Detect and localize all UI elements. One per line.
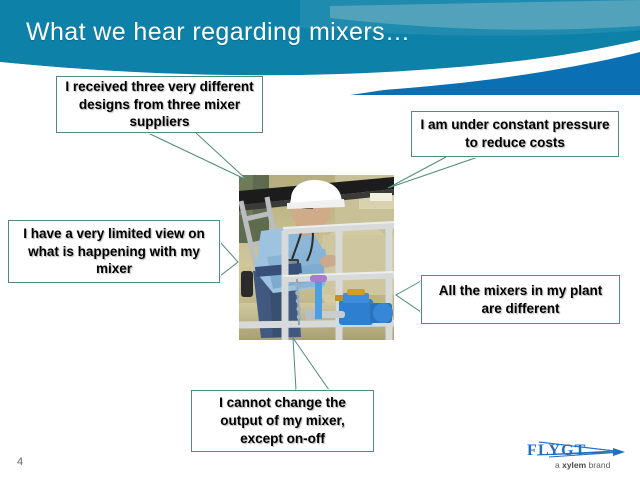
page-number: 4 — [17, 456, 23, 468]
flygt-logo: FLYGT a xylem brand — [519, 428, 631, 474]
logo-tagline: a xylem brand — [555, 460, 611, 470]
flygt-logo-graphic: FLYGT a xylem brand — [519, 428, 631, 474]
logo-tagline-suffix: brand — [586, 460, 610, 470]
callout-onoff-box[interactable]: I cannot change the output of my mixer, … — [191, 390, 374, 452]
logo-tagline-brand: xylem — [562, 460, 587, 470]
callout-onoff-text: I cannot change the output of my mixer, … — [198, 394, 367, 447]
logo-wordmark: FLYGT — [527, 442, 587, 459]
logo-tagline-prefix: a — [555, 460, 562, 470]
